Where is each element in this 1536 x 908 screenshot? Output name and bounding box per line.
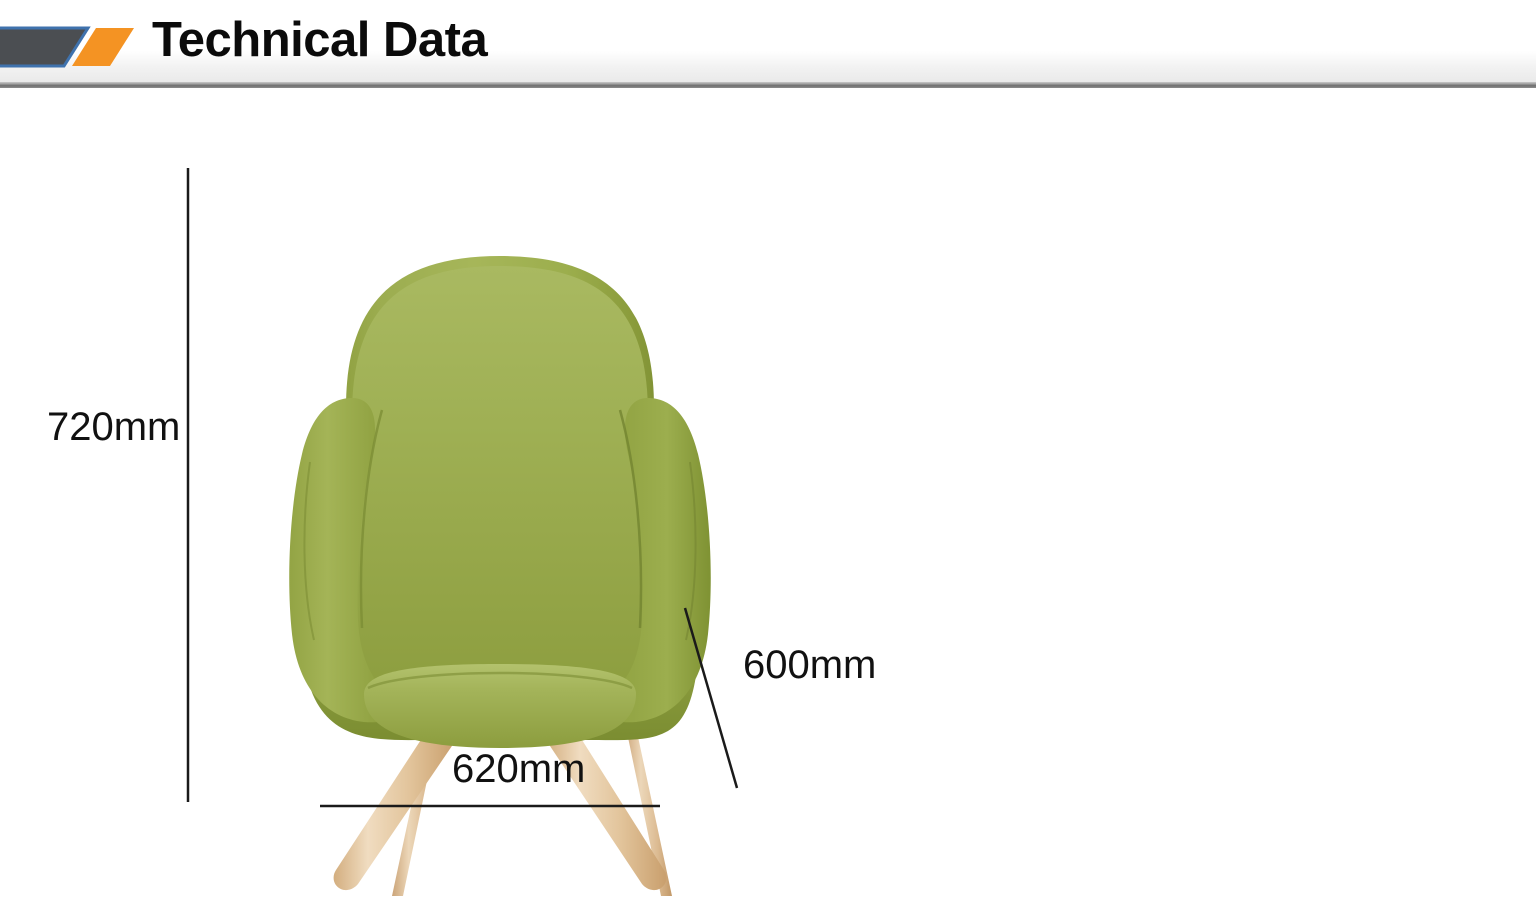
page-title: Technical Data [152, 8, 487, 72]
dimension-label-height: 720mm [47, 405, 180, 450]
dimension-annotations [0, 0, 1536, 864]
product-stage: 720mm 620mm 600mm [0, 88, 1536, 864]
product-image-chair [240, 248, 760, 908]
chair-seat-cushion [364, 664, 636, 748]
chair-backrest-face [352, 266, 648, 718]
chair-leg-front-left [334, 726, 456, 890]
company-logo [0, 16, 140, 72]
dimension-label-depth: 600mm [743, 643, 876, 688]
page-header: Technical Data [0, 0, 1536, 88]
logo-dark-shape [0, 28, 88, 66]
dimension-label-width: 620mm [452, 747, 585, 792]
